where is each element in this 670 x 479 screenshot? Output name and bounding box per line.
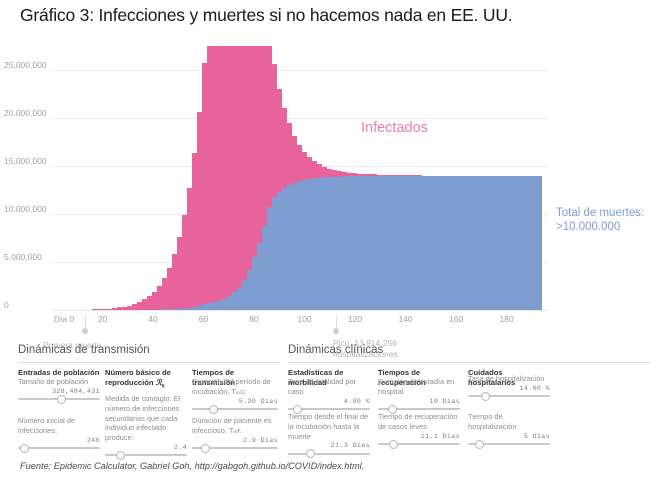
bar-segment-deaths	[302, 180, 306, 310]
y-axis-tick-label: 0	[4, 300, 9, 310]
bar-segment-deaths	[442, 176, 446, 310]
x-axis-tick-label: 120	[348, 314, 362, 324]
bar-segment-deaths	[392, 176, 396, 310]
x-axis-tick-label: Día 0	[54, 314, 74, 324]
bar-segment-deaths	[397, 176, 401, 310]
x-axis-line	[52, 310, 547, 311]
panel-divider-clinicas	[288, 362, 650, 363]
bar-segment-deaths	[447, 176, 451, 310]
slider-knob[interactable]	[481, 392, 490, 401]
bar-segment-deaths	[527, 176, 531, 310]
bar-segment-infected	[252, 46, 256, 257]
bar-segment-infected	[207, 46, 211, 303]
slider-tamano-poblacion[interactable]	[18, 395, 100, 404]
bar-segment-infected	[222, 46, 226, 299]
bar-segment-deaths	[207, 303, 211, 310]
x-axis-tick-label: 20	[98, 314, 107, 324]
control-value-tiempo-hospitalizacion: 5 Días	[468, 433, 550, 440]
control-value-infecciones-iniciales: 246	[18, 437, 100, 444]
x-axis-tick-label: 140	[398, 314, 412, 324]
bar-segment-deaths	[242, 280, 246, 310]
bar-segment-infected	[157, 286, 161, 310]
bar-segment-deaths	[342, 176, 346, 310]
slider-knob[interactable]	[201, 444, 210, 453]
bar-segment-deaths	[472, 176, 476, 310]
bar-segment-infected	[247, 46, 251, 270]
control-value-tiempo-muerte: 21.3 Días	[288, 442, 370, 449]
bar-segment-infected	[302, 152, 306, 180]
bar-segment-deaths	[332, 177, 336, 310]
slider-knob[interactable]	[475, 440, 484, 449]
control-value-periodo-incubacion: 5.20 Días	[192, 398, 278, 405]
chart-bars	[52, 46, 547, 310]
control-label-tamano-poblacion: Tamaño de población	[18, 377, 100, 387]
bar-segment-deaths	[502, 176, 506, 310]
slider-track	[288, 453, 370, 455]
bar-segment-infected	[197, 112, 201, 306]
bar-segment-deaths	[352, 176, 356, 310]
epidemic-chart: 05,000,00010,000,00015,000,00020,000,000…	[0, 34, 670, 334]
slider-track	[192, 408, 278, 410]
control-tasa-hospitalizacion[interactable]: Tasa de hospitalización14.00 %	[468, 374, 550, 401]
control-value-duracion-infeccioso: 2.9 Días	[192, 437, 278, 444]
control-label-duracion-infeccioso: Duración de paciente es infeccioso, Tᵢₙғ…	[192, 416, 278, 436]
bar-segment-deaths	[327, 177, 331, 310]
bar-segment-infected	[297, 145, 301, 181]
slider-r0-slider[interactable]	[105, 451, 187, 460]
control-value-tasa-letalidad: 4.00 %	[288, 398, 370, 405]
bar-segment-deaths	[417, 176, 421, 310]
bar-segment-deaths	[282, 188, 286, 310]
bar-segment-infected	[262, 46, 266, 226]
control-label-tasa-hospitalizacion: Tasa de hospitalización	[468, 374, 550, 384]
peak-marker-dot	[333, 328, 339, 334]
bar-segment-infected	[257, 46, 261, 243]
bar-segment-infected	[307, 157, 311, 179]
r0-symbol: ℛ0	[156, 378, 165, 387]
slider-knob[interactable]	[57, 395, 66, 404]
bar-segment-deaths	[387, 176, 391, 310]
bar-segment-deaths	[222, 299, 226, 310]
bar-segment-deaths	[482, 176, 486, 310]
bar-segment-deaths	[532, 176, 536, 310]
panel-title-transmision: Dinámicas de transmisión	[18, 344, 150, 356]
y-axis-tick-label: 25,000,000	[4, 60, 47, 70]
bar-segment-deaths	[437, 176, 441, 310]
control-label-tiempo-muerte: Tiempo desde el final de la incubación h…	[288, 412, 370, 441]
bar-segment-infected	[332, 170, 336, 177]
bar-segment-deaths	[537, 176, 541, 310]
control-tiempo-muerte[interactable]: Tiempo desde el final de la incubación h…	[288, 412, 370, 458]
control-tasa-letalidad[interactable]: Tasa de letalidad por caso4.00 %	[288, 377, 370, 414]
control-label-periodo-incubacion: Duración del período de incubación, Tᵢₙ …	[192, 377, 278, 397]
bar-segment-infected	[277, 89, 281, 192]
first-death-marker-dot	[82, 328, 88, 334]
bar-segment-infected	[137, 302, 141, 310]
bar-segment-deaths	[427, 176, 431, 310]
bar-segment-deaths	[372, 176, 376, 310]
control-r0-slider[interactable]: Medida de contagio: El número de infecci…	[105, 394, 187, 460]
bar-segment-deaths	[452, 176, 456, 310]
bar-segment-infected	[177, 237, 181, 309]
source-caption: Fuente: Epidemic Calculator, Gabriel Goh…	[20, 461, 364, 471]
bar-segment-deaths	[432, 176, 436, 310]
bar-segment-infected	[162, 278, 166, 310]
x-axis-tick-label: 60	[199, 314, 208, 324]
y-axis-tick-label: 15,000,000	[4, 156, 47, 166]
bar-segment-infected	[237, 46, 241, 287]
bar-segment-deaths	[512, 176, 516, 310]
bar-segment-deaths	[212, 302, 216, 310]
control-value-tasa-hospitalizacion: 14.00 %	[468, 385, 550, 392]
x-axis-tick-label: 80	[249, 314, 258, 324]
slider-recuperacion-leves[interactable]	[378, 440, 460, 449]
bar-segment-deaths	[462, 176, 466, 310]
control-infecciones-iniciales[interactable]: Número inicial de infecciones:246	[18, 416, 100, 453]
control-value-estadia-hospital: 10 Días	[378, 398, 460, 405]
bar-segment-deaths	[322, 177, 326, 310]
bar-segment-deaths	[412, 176, 416, 310]
bar-segment-deaths	[517, 176, 521, 310]
bar-segment-deaths	[467, 176, 471, 310]
bar-segment-infected	[142, 299, 146, 309]
slider-tasa-hospitalizacion[interactable]	[468, 392, 550, 401]
y-axis-tick-label: 10,000,000	[4, 204, 47, 214]
bar-segment-deaths	[402, 176, 406, 310]
control-label-tiempo-hospitalizacion: Tiempo de hospitalización	[468, 412, 550, 432]
bar-segment-deaths	[257, 243, 261, 310]
bar-segment-deaths	[287, 185, 291, 310]
bar-segment-infected	[167, 268, 171, 310]
slider-track	[18, 447, 100, 449]
control-value-r0-slider: 2.4	[105, 444, 187, 451]
bar-segment-infected	[187, 188, 191, 308]
control-recuperacion-leves[interactable]: Tiempo de recuperación de casos leves11.…	[378, 412, 460, 449]
bar-segment-deaths	[522, 176, 526, 310]
bar-segment-deaths	[307, 179, 311, 310]
bar-segment-infected	[312, 161, 316, 178]
bar-segment-infected	[182, 215, 186, 308]
bar-segment-deaths	[337, 177, 341, 310]
bar-segment-deaths	[457, 176, 461, 310]
slider-tiempo-muerte[interactable]	[288, 449, 370, 458]
bar-segment-deaths	[237, 287, 241, 310]
bar-segment-deaths	[492, 176, 496, 310]
slider-tiempo-hospitalizacion[interactable]	[468, 440, 550, 449]
x-axis-tick-label: 160	[449, 314, 463, 324]
bar-segment-infected	[212, 46, 216, 302]
control-estadia-hospital[interactable]: Duración de estadía en hospital10 Días	[378, 377, 460, 414]
bar-segment-deaths	[367, 176, 371, 310]
bar-segment-infected	[292, 136, 296, 183]
bar-segment-deaths	[407, 176, 411, 310]
bar-segment-infected	[322, 167, 326, 177]
bar-segment-deaths	[297, 181, 301, 310]
bar-segment-deaths	[292, 183, 296, 310]
page-title: Gráfico 3: Infecciones y muertes si no h…	[20, 5, 512, 26]
y-axis-tick-label: 20,000,000	[4, 108, 47, 118]
bar-segment-deaths	[262, 226, 266, 310]
bar-segment-infected	[202, 63, 206, 304]
control-label-r0-slider: Medida de contagio: El número de infecci…	[105, 394, 187, 443]
legend-deaths-label: Total de muertes: >10.000.000	[556, 206, 644, 235]
control-tamano-poblacion[interactable]: Tamaño de población328,484,431	[18, 377, 100, 404]
bar-segment-infected	[267, 46, 271, 207]
legend-deaths-line1: Total de muertes:	[556, 206, 644, 220]
bar-segment-deaths	[247, 270, 251, 310]
x-axis-tick-label: 100	[297, 314, 311, 324]
bar-segment-deaths	[377, 176, 381, 310]
y-axis-tick-label: 5,000,000	[4, 252, 42, 262]
slider-duracion-infeccioso[interactable]	[192, 444, 278, 453]
bar-segment-infected	[147, 296, 151, 310]
bar-segment-infected	[192, 153, 196, 307]
bar-segment-deaths	[267, 207, 271, 310]
slider-knob[interactable]	[116, 451, 125, 460]
bar-segment-infected	[317, 164, 321, 177]
control-value-recuperacion-leves: 11.1 Días	[378, 433, 460, 440]
bar-segment-deaths	[357, 176, 361, 310]
chart-plot-area	[52, 46, 547, 310]
legend-deaths-line2: >10.000.000	[556, 220, 644, 234]
bar-segment-infected	[242, 46, 246, 280]
x-axis-tick-label: 180	[499, 314, 513, 324]
control-value-tamano-poblacion: 328,484,431	[18, 388, 100, 395]
control-duracion-infeccioso[interactable]: Duración de paciente es infeccioso, Tᵢₙғ…	[192, 416, 278, 453]
bar-segment-deaths	[422, 176, 426, 310]
bar-segment-deaths	[477, 176, 481, 310]
bar-segment-deaths	[347, 176, 351, 310]
slider-knob[interactable]	[20, 444, 29, 453]
control-tiempo-hospitalizacion[interactable]: Tiempo de hospitalización5 Días	[468, 412, 550, 449]
slider-periodo-incubacion[interactable]	[192, 405, 278, 414]
bar-segment-deaths	[507, 176, 511, 310]
bar-segment-deaths	[217, 301, 221, 310]
bar-segment-deaths	[252, 257, 256, 310]
slider-knob[interactable]	[209, 405, 218, 414]
bar-segment-deaths	[277, 192, 281, 310]
bar-segment-infected	[327, 169, 331, 177]
parameter-controls: Dinámicas de transmisiónEntradas de pobl…	[0, 344, 670, 464]
control-periodo-incubacion[interactable]: Duración del período de incubación, Tᵢₙ …	[192, 377, 278, 414]
bar-segment-deaths	[272, 197, 276, 310]
bar-segment-deaths	[487, 176, 491, 310]
bar-segment-infected	[272, 64, 276, 196]
bar-segment-infected	[227, 46, 231, 296]
x-axis-tick-label: 40	[148, 314, 157, 324]
control-label-tasa-letalidad: Tasa de letalidad por caso	[288, 377, 370, 397]
bar-segment-deaths	[317, 178, 321, 310]
bar-segment-deaths	[227, 296, 231, 310]
control-group-heading-r0: Número básico de reproducción ℛ0	[105, 368, 187, 390]
bar-segment-deaths	[382, 176, 386, 310]
panel-divider-transmision	[18, 362, 280, 363]
bar-segment-deaths	[312, 178, 316, 310]
control-label-infecciones-iniciales: Número inicial de infecciones:	[18, 416, 100, 436]
bar-segment-infected	[217, 46, 221, 301]
control-label-recuperacion-leves: Tiempo de recuperación de casos leves	[378, 412, 460, 432]
legend-infected-label: Infectados	[361, 120, 428, 136]
slider-knob[interactable]	[389, 440, 398, 449]
panel-title-clinicas: Dinámicas clínicas	[288, 344, 383, 356]
chart-bar	[542, 46, 547, 310]
bar-segment-infected	[152, 292, 156, 310]
control-label-estadia-hospital: Duración de estadía en hospital	[378, 377, 460, 397]
slider-infecciones-iniciales[interactable]	[18, 444, 100, 453]
bar-segment-deaths	[232, 292, 236, 310]
bar-segment-infected	[287, 123, 291, 184]
bar-segment-infected	[282, 108, 286, 188]
bar-segment-infected	[232, 46, 236, 292]
bar-segment-deaths	[362, 176, 366, 310]
slider-knob[interactable]	[306, 449, 315, 458]
bar-segment-infected	[172, 254, 176, 309]
bar-segment-deaths	[497, 176, 501, 310]
